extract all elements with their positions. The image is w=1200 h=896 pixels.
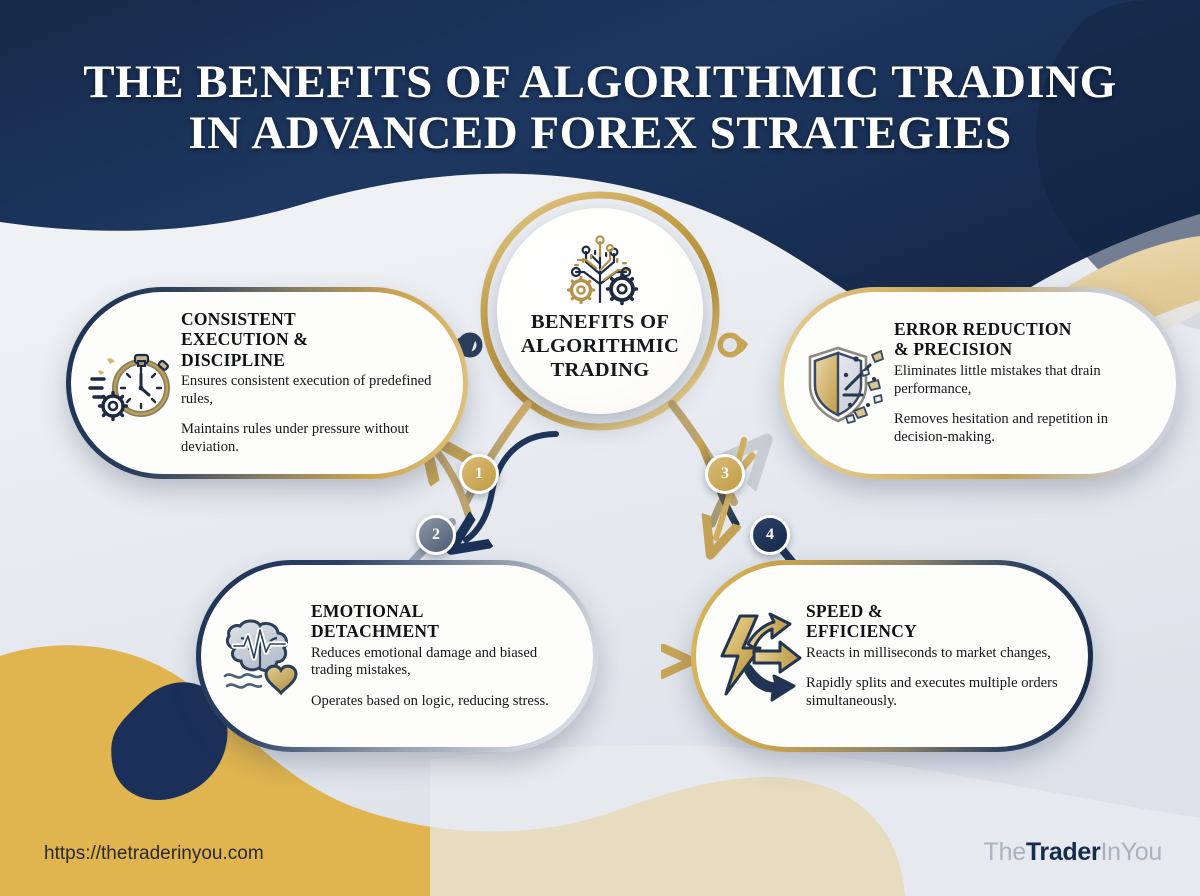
step-badge-4-label: 4 <box>766 526 774 544</box>
infographic-canvas: THE BENEFITS OF ALGORITHMIC TRADING IN A… <box>0 0 1200 896</box>
logo-part-trader: Trader <box>1026 838 1101 866</box>
card-body: Reduces emotional damage and biased trad… <box>311 645 577 711</box>
card-consistent-execution-discipline[interactable]: CONSISTENT EXECUTION & DISCIPLINE Ensure… <box>66 287 468 479</box>
card-heading: SPEED & EFFICIENCY <box>806 601 1072 642</box>
card-body-p1: Eliminates little mistakes that drain pe… <box>894 363 1101 397</box>
step-badge-2-label: 2 <box>432 526 440 544</box>
card-error-reduction-precision[interactable]: ERROR REDUCTION & PRECISION Eliminates l… <box>779 287 1181 479</box>
brain-heart-pulse-icon <box>215 608 311 704</box>
step-badge-1: 1 <box>459 454 499 494</box>
card-heading-line-2: & PRECISION <box>894 339 1160 359</box>
step-badge-3: 3 <box>705 454 745 494</box>
logo-part-the: The <box>984 838 1026 866</box>
brand-logo: TheTraderInYou <box>984 838 1162 867</box>
card-body-p1: Reacts in milliseconds to market changes… <box>806 645 1051 661</box>
lightning-arrows-icon <box>710 608 806 704</box>
card-body-p1: Reduces emotional damage and biased trad… <box>311 645 537 679</box>
card-body: Ensures consistent execution of predefin… <box>181 373 447 457</box>
hub-title-line-1: BENEFITS OF <box>521 310 679 334</box>
card-heading-line-2: DETACHMENT <box>311 621 577 641</box>
card-body: Reacts in milliseconds to market changes… <box>806 645 1072 711</box>
card-body-p1: Ensures consistent execution of predefin… <box>181 373 431 407</box>
card-heading-line-2: EXECUTION & <box>181 329 447 349</box>
card-body-p2: Removes hesitation and repetition in dec… <box>894 411 1160 447</box>
card-heading-line-1: ERROR REDUCTION <box>894 319 1160 339</box>
website-url[interactable]: https://thetraderinyou.com <box>44 843 264 865</box>
card-heading-line-3: DISCIPLINE <box>181 350 447 370</box>
stopwatch-gear-icon <box>85 335 181 431</box>
card-heading-line-2: EFFICIENCY <box>806 621 1072 641</box>
page-title: THE BENEFITS OF ALGORITHMIC TRADING IN A… <box>0 57 1200 159</box>
card-heading-line-1: SPEED & <box>806 601 1072 621</box>
card-speed-efficiency[interactable]: SPEED & EFFICIENCY Reacts in millisecond… <box>691 560 1093 752</box>
hub-center: BENEFITS OF ALGORITHMIC TRADING <box>497 208 703 414</box>
hub-title-line-2: ALGORITHMIC <box>521 334 679 358</box>
step-badge-3-label: 3 <box>721 465 729 483</box>
step-badge-1-label: 1 <box>475 465 483 483</box>
card-heading: ERROR REDUCTION & PRECISION <box>894 319 1160 360</box>
card-heading-line-1: CONSISTENT <box>181 309 447 329</box>
card-heading: EMOTIONAL DETACHMENT <box>311 601 577 642</box>
card-body: Eliminates little mistakes that drain pe… <box>894 363 1160 447</box>
step-badge-2: 2 <box>416 515 456 555</box>
step-badge-4: 4 <box>750 515 790 555</box>
card-body-p2: Maintains rules under pressure without d… <box>181 421 447 457</box>
hub-title-line-3: TRADING <box>521 358 679 382</box>
card-body-p2: Operates based on logic, reducing stress… <box>311 693 577 711</box>
title-line-2: IN ADVANCED FOREX STRATEGIES <box>0 108 1200 159</box>
shield-shatter-icon <box>798 335 894 431</box>
card-body-p2: Rapidly splits and executes multiple ord… <box>806 675 1072 711</box>
title-line-1: THE BENEFITS OF ALGORITHMIC TRADING <box>83 56 1116 108</box>
circuit-tree-gears-icon <box>546 230 654 306</box>
card-emotional-detachment[interactable]: EMOTIONAL DETACHMENT Reduces emotional d… <box>196 560 598 752</box>
logo-part-inyou: InYou <box>1100 838 1162 866</box>
hub-title: BENEFITS OF ALGORITHMIC TRADING <box>509 310 691 383</box>
card-heading: CONSISTENT EXECUTION & DISCIPLINE <box>181 309 447 370</box>
card-heading-line-1: EMOTIONAL <box>311 601 577 621</box>
